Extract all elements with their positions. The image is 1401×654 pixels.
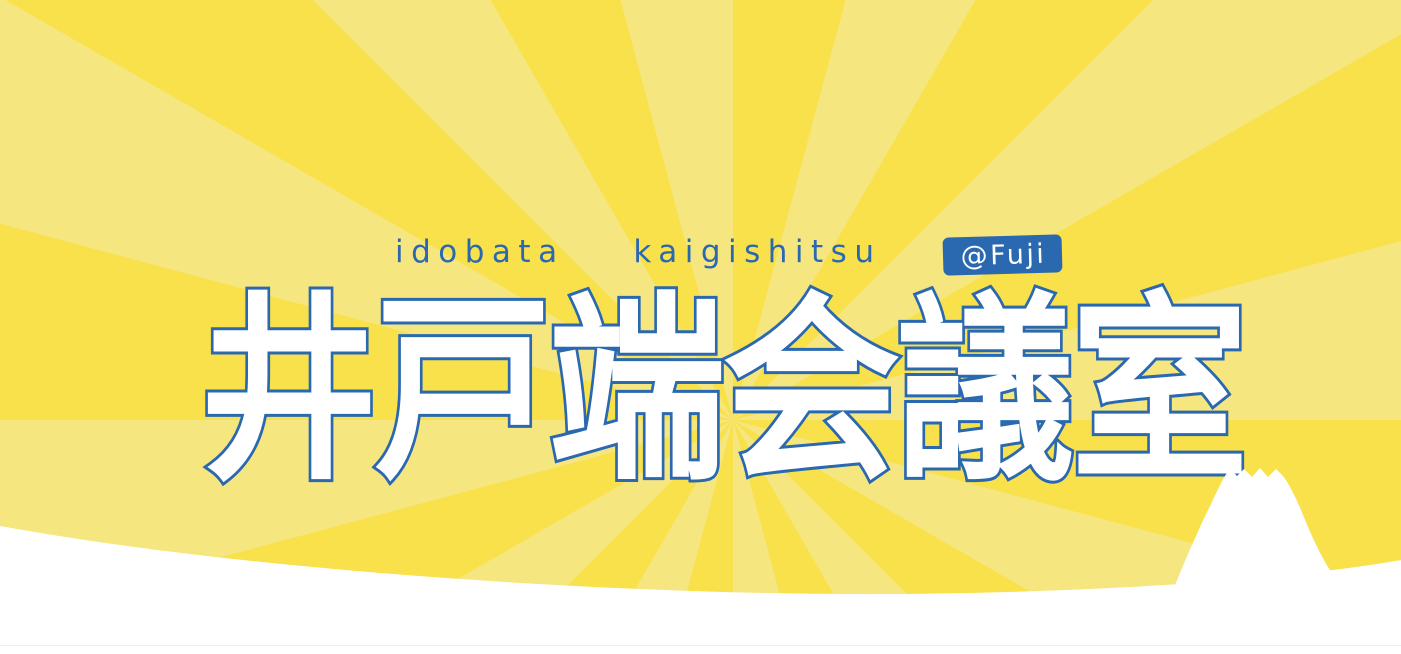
banner-root: idobata kaigishitsu @Fuji 井戸端会議室 <box>0 0 1401 654</box>
bottom-divider <box>0 645 1401 646</box>
romaji-word-kaigishitsu: kaigishitsu <box>633 231 881 273</box>
bottom-white-curve <box>0 474 1401 654</box>
fuji-badge-label: @Fuji <box>958 240 1046 269</box>
fuji-location-badge: @Fuji <box>942 234 1062 275</box>
romaji-word-idobata: idobata <box>395 231 565 273</box>
romaji-subtitle: idobata kaigishitsu <box>395 231 915 273</box>
